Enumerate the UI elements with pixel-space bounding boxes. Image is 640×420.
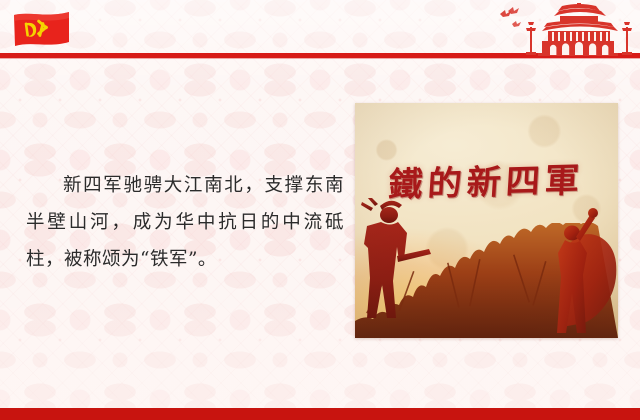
bottom-red-bar [0, 408, 640, 420]
body-text-block: 新四军驰骋大江南北，支撑东南半壁山河，成为华中抗日的中流砥柱，被称颂为“铁军”。 [26, 167, 344, 278]
slide-canvas: 新四军驰骋大江南北，支撑东南半壁山河，成为华中抗日的中流砥柱，被称颂为“铁军”。 [0, 0, 640, 420]
cpc-flag-icon [11, 9, 73, 53]
photo-vignette [355, 103, 618, 338]
photo-calligraphy-title: 鐵的新四軍 [355, 152, 618, 208]
historic-photo: 鐵的新四軍 [355, 103, 618, 338]
top-red-rule-thin [0, 58, 640, 59]
tiananmen-gate-icon [498, 2, 640, 58]
paragraph-main: 新四军驰骋大江南北，支撑东南半壁山河，成为华中抗日的中流砥柱，被称颂为“铁军”。 [26, 167, 344, 278]
